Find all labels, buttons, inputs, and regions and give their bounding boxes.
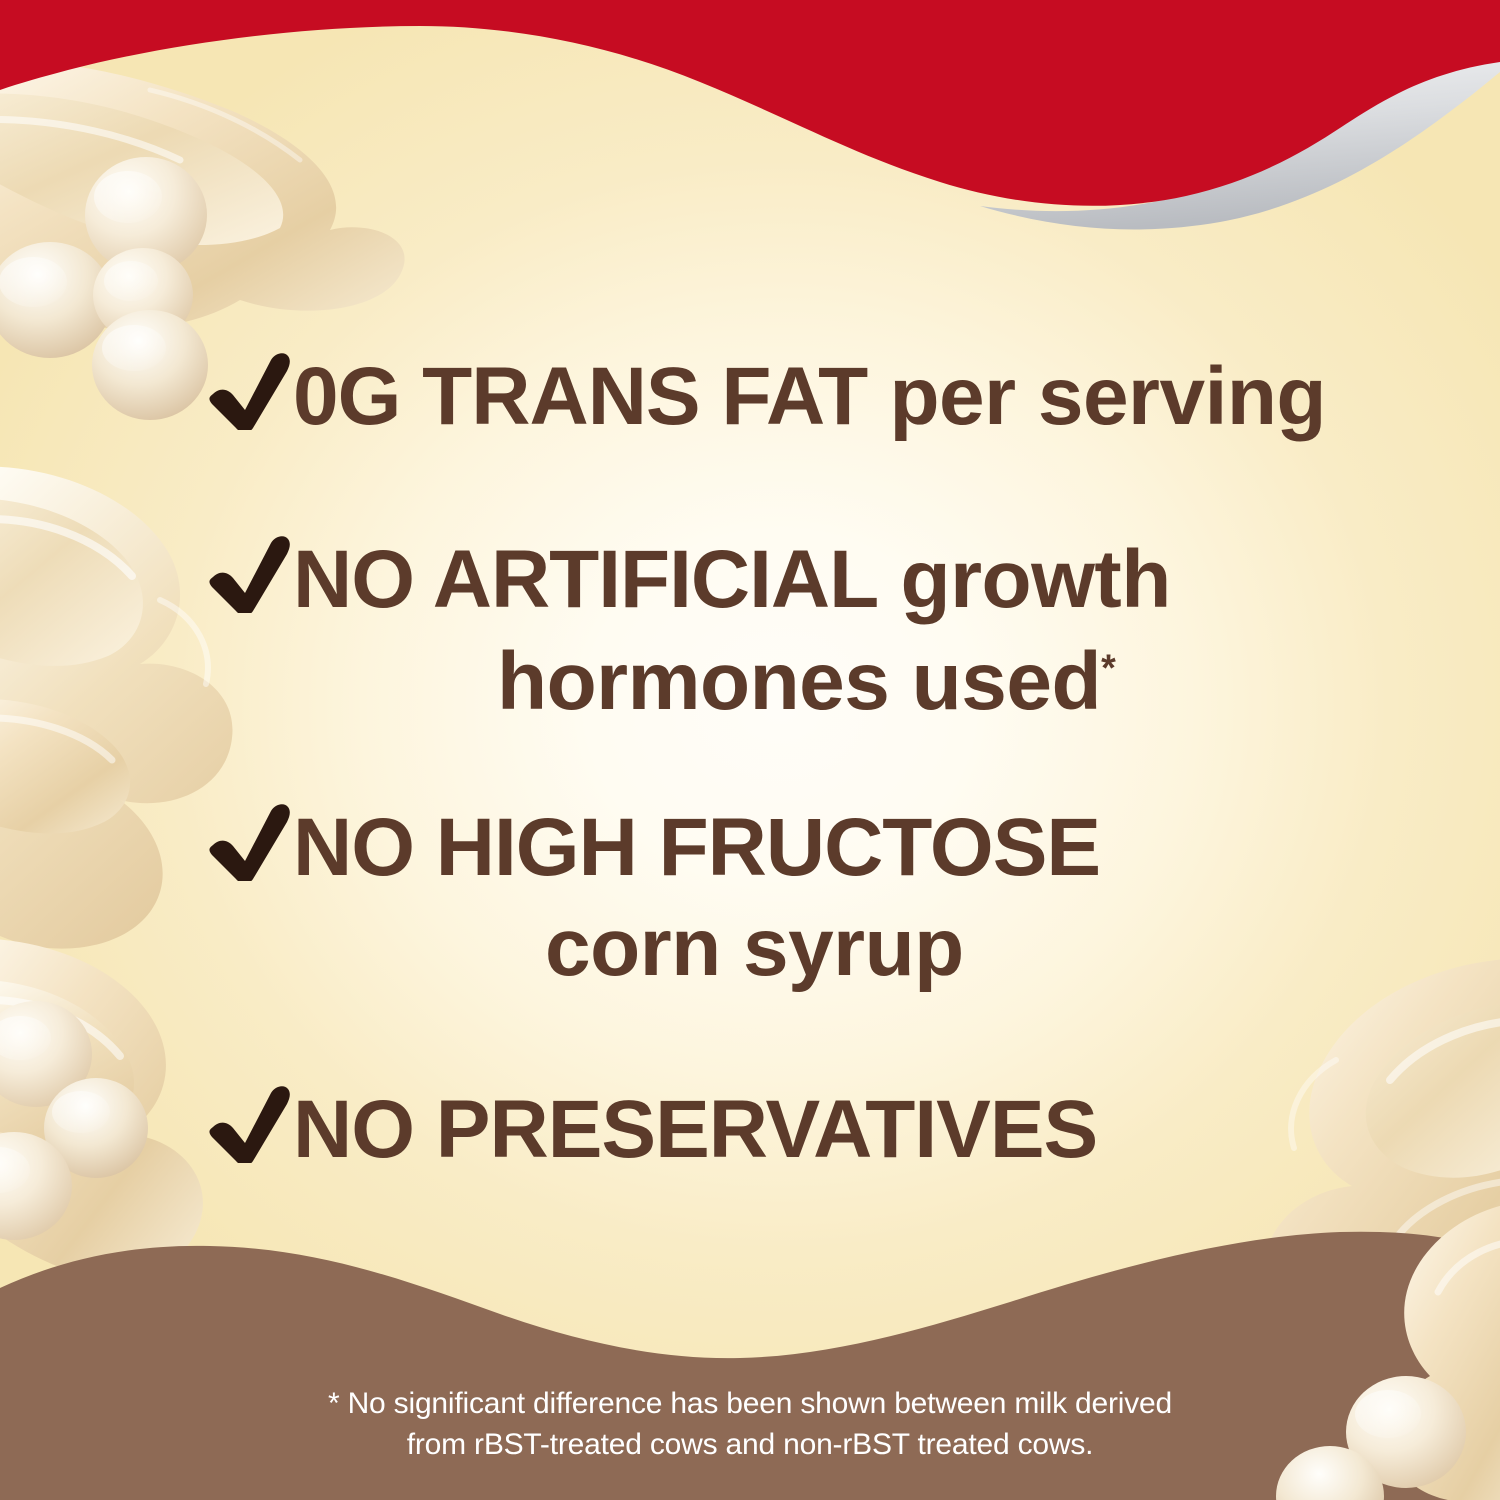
claim-3-line2: corn syrup [545,902,964,993]
claim-2-emphasis: NO ARTIFICIAL [293,534,878,625]
claim-1-soft: per serving [867,351,1326,442]
checkmark-icon [205,352,291,430]
claim-item-preservatives: NO PRESERVATIVES [0,1085,1500,1171]
claim-item-trans-fat: 0G TRANS FAT per serving [0,352,1500,438]
footnote-line-1: * No significant difference has been sho… [0,1384,1500,1425]
footnote-disclaimer: * No significant difference has been sho… [0,1384,1500,1466]
claim-2-soft: growth [878,534,1171,625]
checkmark-icon [205,1085,291,1163]
claim-item-hfcs: NO HIGH FRUCTOSE corn syrup [0,803,1500,989]
claim-4-emphasis: NO PRESERVATIVES [293,1084,1097,1175]
claim-2-line2: hormones used [497,636,1101,727]
claim-1-emphasis: 0G TRANS FAT [293,351,867,442]
checkmark-icon [205,803,291,881]
claim-3-emphasis: NO HIGH FRUCTOSE [293,802,1100,893]
product-claims-panel: 0G TRANS FAT per serving NO ARTIFICIAL g… [0,0,1500,1500]
claim-2-superscript: * [1101,647,1115,689]
footnote-line-2: from rBST-treated cows and non-rBST trea… [0,1425,1500,1466]
checkmark-icon [205,535,291,613]
top-red-banner [0,0,1500,260]
claim-item-growth-hormones: NO ARTIFICIAL growth hormones used* [0,535,1500,723]
